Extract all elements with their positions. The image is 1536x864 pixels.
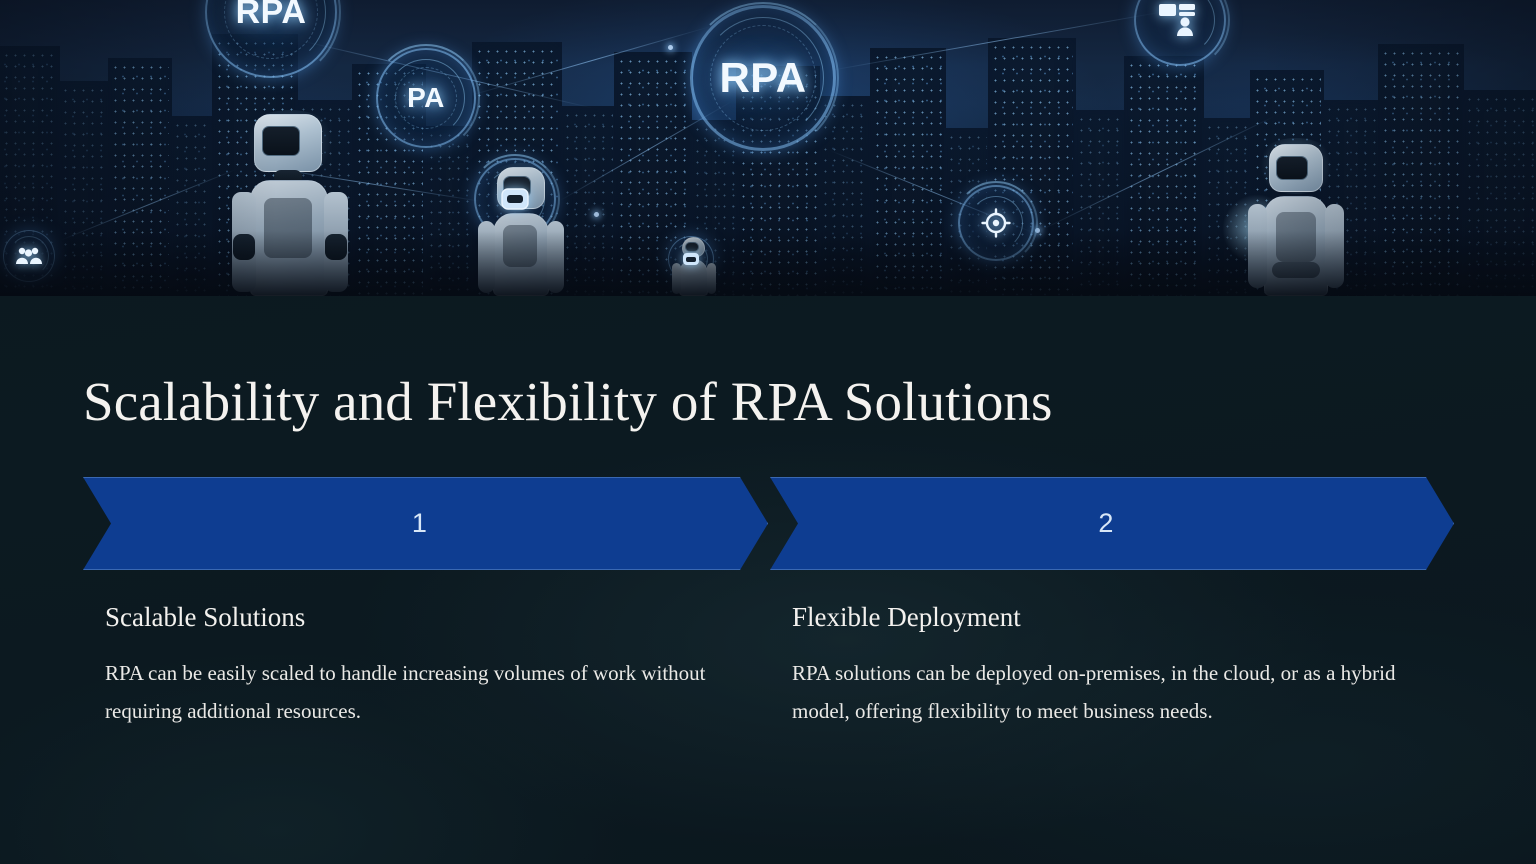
step-body-1: RPA can be easily scaled to handle incre…: [105, 654, 745, 730]
step-chevron-2[interactable]: 2: [770, 477, 1454, 570]
hero-vignette: [0, 0, 1536, 296]
hero-banner-image: RPA PA RPA: [0, 0, 1536, 296]
step-column-2: Flexible Deployment RPA solutions can be…: [792, 600, 1440, 730]
step-heading-1: Scalable Solutions: [105, 600, 753, 634]
hud-label: RPA: [236, 0, 307, 32]
hud-label: PA: [407, 82, 445, 114]
robot-head-icon: [497, 184, 533, 214]
step-heading-2: Flexible Deployment: [792, 600, 1440, 634]
gear-icon: [981, 208, 1011, 238]
step-body-2: RPA solutions can be deployed on-premise…: [792, 654, 1410, 730]
group-people-icon: [16, 246, 42, 266]
user-presentation-icon: [1158, 3, 1202, 37]
hud-label: RPA: [719, 54, 806, 102]
page-title: Scalability and Flexibility of RPA Solut…: [83, 370, 1053, 434]
step-chevron-1[interactable]: 1: [83, 477, 768, 570]
robot-head-icon: [680, 250, 702, 268]
step-column-1: Scalable Solutions RPA can be easily sca…: [105, 600, 753, 730]
slide-canvas: RPA PA RPA: [0, 0, 1536, 864]
step-number-2: 2: [1098, 508, 1113, 539]
step-number-1: 1: [412, 508, 427, 539]
